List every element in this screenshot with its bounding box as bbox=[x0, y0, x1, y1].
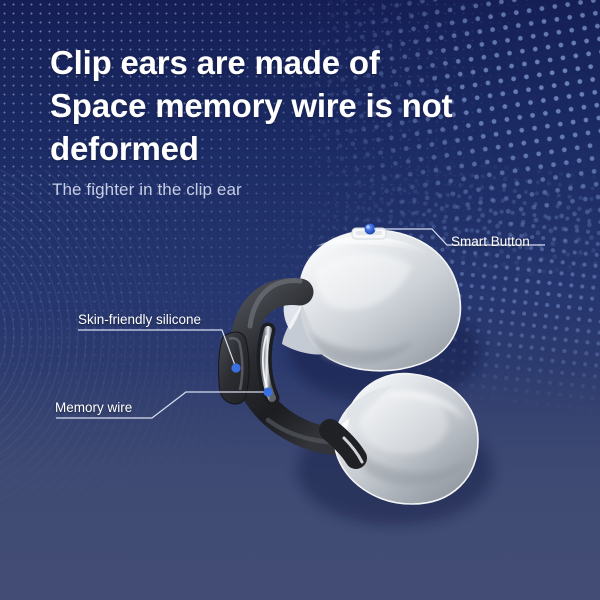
product-banner: Clip ears are made of Space memory wire … bbox=[0, 0, 600, 600]
marker-dot-silicone bbox=[231, 363, 240, 372]
callout-leader-lines bbox=[0, 0, 600, 600]
callout-label-skin-friendly: Skin-friendly silicone bbox=[78, 312, 201, 327]
callout-label-memory-wire: Memory wire bbox=[55, 400, 132, 415]
callout-label-smart-button: Smart Button bbox=[451, 234, 530, 249]
leader-skin-friendly bbox=[78, 330, 241, 373]
marker-dot-memory-wire bbox=[263, 387, 272, 396]
